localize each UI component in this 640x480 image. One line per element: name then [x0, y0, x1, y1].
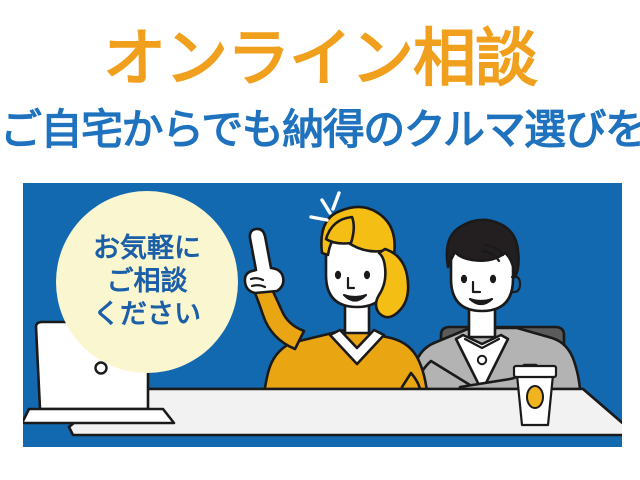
illustration-panel: .ol { fill:none; stroke:#1A1A1A; stroke-… [23, 183, 622, 447]
page-subtitle: ご自宅からでも納得のクルマ選びを [0, 104, 640, 156]
online-consultation-banner: オンライン相談 ご自宅からでも納得のクルマ選びを .ol { fill:none… [0, 0, 640, 480]
coffee-cup [514, 366, 556, 425]
headline-area: オンライン相談 ご自宅からでも納得のクルマ選びを [0, 0, 640, 178]
badge-line-3: ください [93, 298, 201, 331]
page-title: オンライン相談 [0, 26, 640, 92]
status-badge: お気軽に ご相談 ください [56, 191, 238, 373]
badge-line-1: お気軽に [93, 232, 201, 265]
badge-line-2: ご相談 [107, 265, 188, 298]
man-figure [408, 220, 581, 411]
